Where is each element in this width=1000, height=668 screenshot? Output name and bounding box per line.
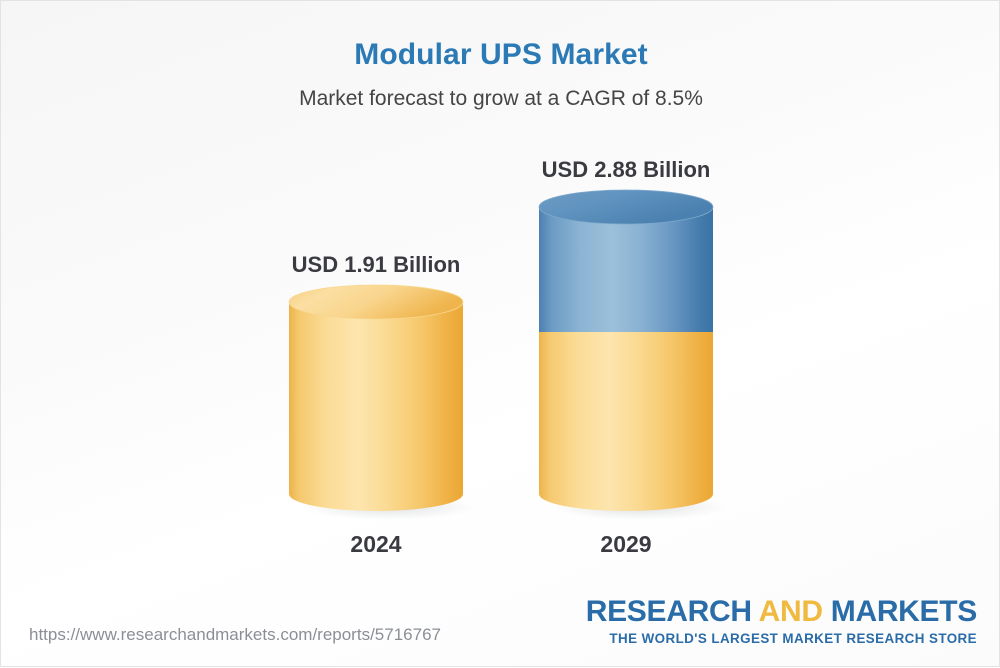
logo-wordmark: RESEARCH AND MARKETS — [586, 595, 977, 629]
logo-word-markets: MARKETS — [831, 595, 977, 628]
logo-word-research: RESEARCH — [586, 595, 752, 628]
axis-label-2024: 2024 — [261, 529, 491, 559]
source-url[interactable]: https://www.researchandmarkets.com/repor… — [29, 624, 441, 646]
cylinder-2029[interactable] — [511, 184, 741, 519]
logo-word-and: AND — [752, 595, 831, 628]
bar-group-2024: USD 1.91 Billion — [261, 251, 491, 519]
value-label-2029: USD 2.88 Billion — [511, 156, 741, 184]
logo-tagline: THE WORLD'S LARGEST MARKET RESEARCH STOR… — [586, 629, 977, 648]
bar-group-2029: USD 2.88 Billion — [511, 156, 741, 519]
research-and-markets-logo[interactable]: RESEARCH AND MARKETS THE WORLD'S LARGEST… — [586, 595, 977, 648]
cylinder-segment-gold-2029 — [539, 332, 713, 511]
infographic-canvas: Modular UPS Market Market forecast to gr… — [0, 0, 1000, 667]
cylinder-2024[interactable] — [261, 279, 491, 519]
value-label-2024: USD 1.91 Billion — [261, 251, 491, 279]
cylinder-segment-blue-2029 — [539, 207, 713, 332]
axis-label-2029: 2029 — [511, 529, 741, 559]
cylinder-body-2024 — [289, 302, 463, 511]
chart-plot-area: USD 1.91 Billion — [1, 1, 1000, 668]
